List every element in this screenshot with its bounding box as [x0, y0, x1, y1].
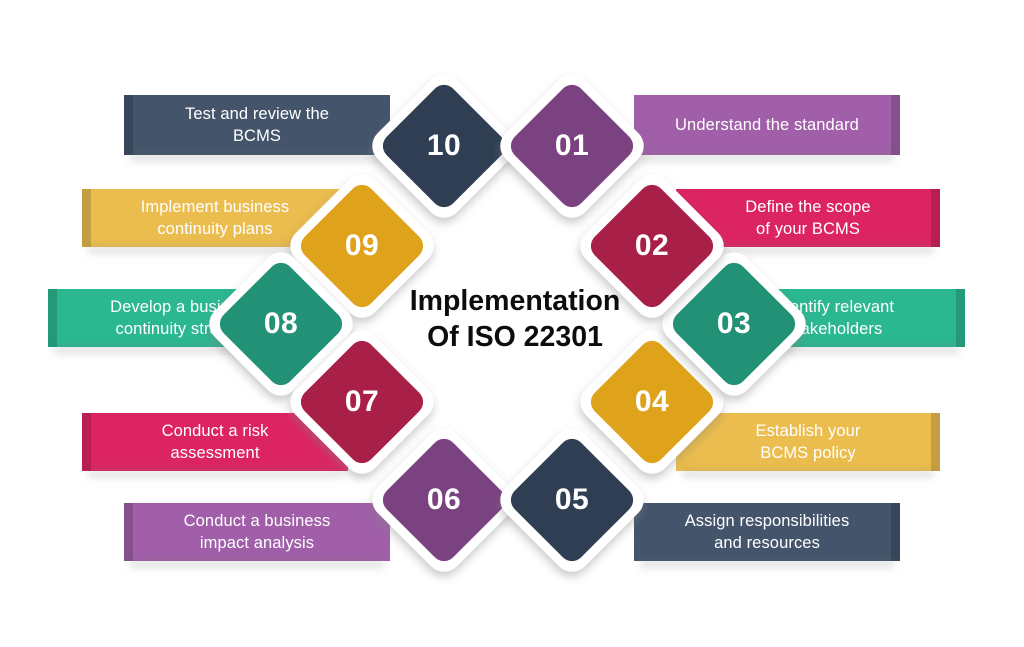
step-label-04: Establish your BCMS policy	[745, 420, 870, 465]
step-diamond-06[interactable]: 06	[388, 444, 500, 556]
step-bar-10[interactable]: Test and review the BCMS	[124, 95, 390, 155]
page-title: Implementation Of ISO 22301	[370, 283, 660, 356]
step-diamond-10[interactable]: 10	[388, 90, 500, 202]
step-number-01: 01	[516, 90, 628, 202]
step-bar-06[interactable]: Conduct a business impact analysis	[124, 503, 390, 561]
step-number-06: 06	[388, 444, 500, 556]
step-label-05: Assign responsibilities and resources	[675, 510, 860, 555]
step-number-05: 05	[516, 444, 628, 556]
step-diamond-05[interactable]: 05	[516, 444, 628, 556]
step-number-10: 10	[388, 90, 500, 202]
step-label-06: Conduct a business impact analysis	[174, 510, 341, 555]
step-label-02: Define the scope of your BCMS	[735, 196, 880, 241]
step-number-07: 07	[306, 346, 418, 458]
infographic-canvas: Test and review the BCMS Implement busin…	[0, 0, 1024, 647]
step-diamond-07[interactable]: 07	[306, 346, 418, 458]
step-label-10: Test and review the BCMS	[175, 103, 339, 148]
step-bar-01[interactable]: Understand the standard	[634, 95, 900, 155]
step-bar-04[interactable]: Establish your BCMS policy	[676, 413, 940, 471]
step-bar-05[interactable]: Assign responsibilities and resources	[634, 503, 900, 561]
step-label-09: Implement business continuity plans	[131, 196, 300, 241]
step-diamond-01[interactable]: 01	[516, 90, 628, 202]
step-label-01: Understand the standard	[665, 114, 869, 136]
step-label-07: Conduct a risk assessment	[152, 420, 279, 465]
